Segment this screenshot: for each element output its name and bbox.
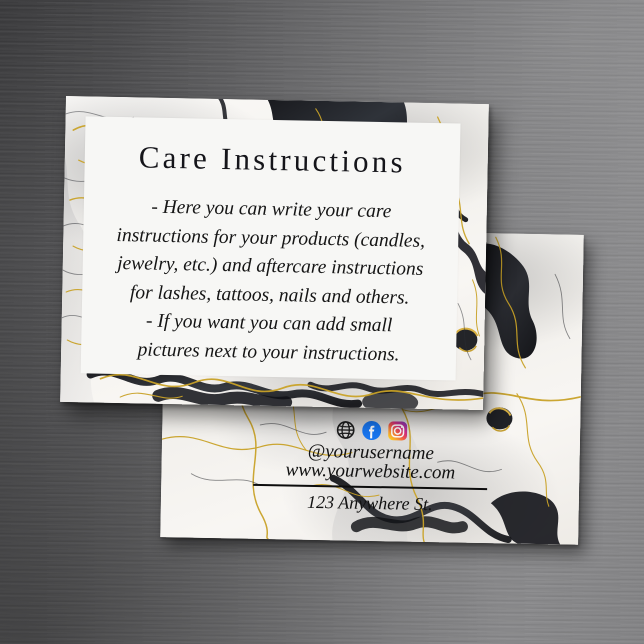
care-instructions-card[interactable]: Care Instructions - Here you can write y… (60, 96, 489, 410)
care-card-surface: Care Instructions - Here you can write y… (60, 96, 489, 410)
business-card-mockup-scene: @yourusername www.yourwebsite.com 123 An… (0, 0, 644, 644)
contact-details: @yourusername www.yourwebsite.com 123 An… (161, 416, 581, 518)
globe-icon[interactable] (336, 420, 355, 439)
care-instructions-body: - Here you can write your care instructi… (81, 192, 459, 370)
care-text-panel: Care Instructions - Here you can write y… (81, 116, 461, 380)
divider-rule (253, 484, 487, 490)
facebook-icon[interactable] (362, 420, 381, 439)
instagram-icon[interactable] (388, 421, 407, 440)
page-title: Care Instructions (84, 139, 460, 180)
care-line: pictures next to your instructions. (93, 335, 444, 370)
